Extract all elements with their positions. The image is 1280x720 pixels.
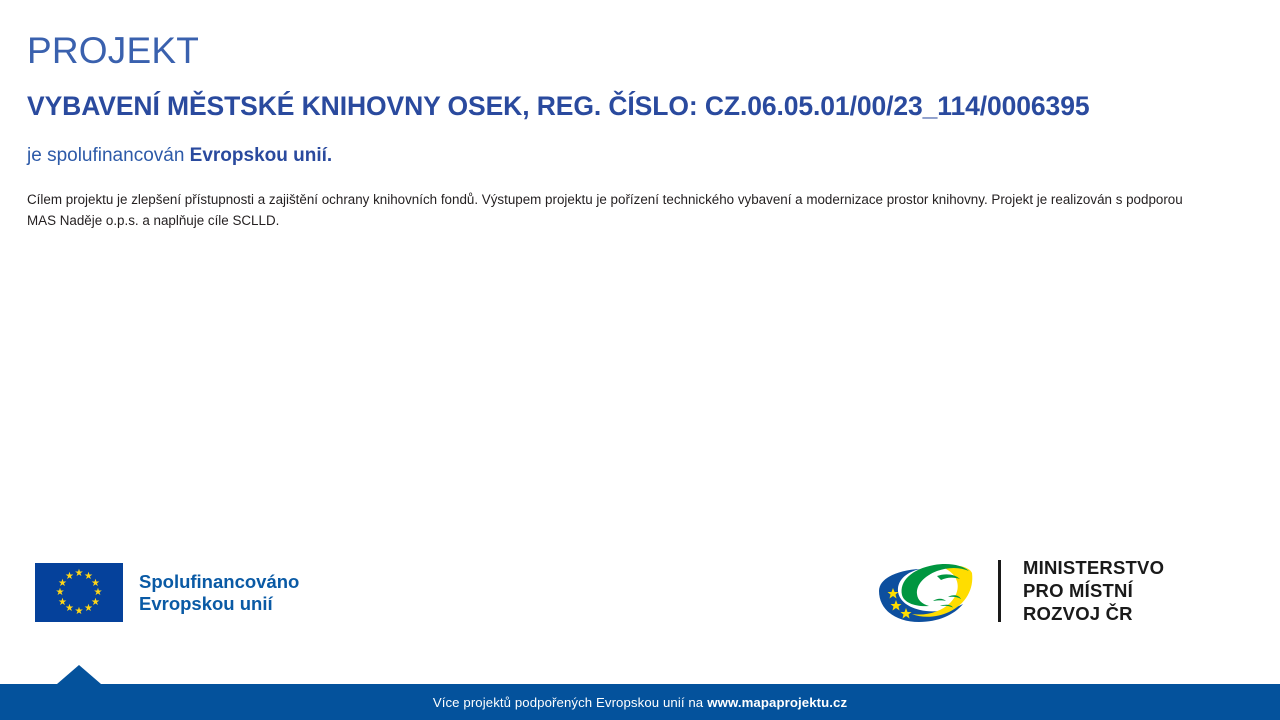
eu-star-icon: ★ xyxy=(65,572,74,581)
ministry-line-1: MINISTERSTVO xyxy=(1023,556,1164,579)
page-kicker: PROJEKT xyxy=(27,28,1242,74)
eu-logo-text: Spolufinancováno Evropskou unií xyxy=(139,571,299,615)
ministry-line-3: ROZVOJ ČR xyxy=(1023,602,1164,625)
footer-url[interactable]: www.mapaprojektu.cz xyxy=(707,695,847,710)
funding-statement-prefix: je spolufinancován xyxy=(27,145,190,166)
logo-divider xyxy=(998,560,1001,622)
eu-cofunding-logo: ★★★★★★★★★★★★ Spolufinancováno Evropskou … xyxy=(35,563,299,622)
eu-flag-icon: ★★★★★★★★★★★★ xyxy=(35,563,123,622)
ministry-logo: MINISTERSTVO PRO MÍSTNÍ ROZVOJ ČR xyxy=(874,556,1164,625)
footer-text: Více projektů podpořených Evropskou unií… xyxy=(0,684,1280,720)
footer-bar: Více projektů podpořených Evropskou unií… xyxy=(0,684,1280,720)
ministry-logo-text: MINISTERSTVO PRO MÍSTNÍ ROZVOJ ČR xyxy=(1023,556,1164,625)
footer-notch-triangle xyxy=(57,665,101,684)
footer-text-prefix: Více projektů podpořených Evropskou unií… xyxy=(433,695,703,710)
eu-star-icon: ★ xyxy=(75,569,84,578)
eu-logo-line-2: Evropskou unií xyxy=(139,593,299,615)
project-description: Cílem projektu je zlepšení přístupnosti … xyxy=(27,189,1187,231)
eu-star-icon: ★ xyxy=(56,588,65,597)
page-title: VYBAVENÍ MĚSTSKÉ KNIHOVNY OSEK, REG. ČÍS… xyxy=(27,90,1242,122)
funding-statement: je spolufinancován Evropskou unií. xyxy=(27,144,1242,168)
slide-canvas: PROJEKT VYBAVENÍ MĚSTSKÉ KNIHOVNY OSEK, … xyxy=(0,0,1280,720)
eu-star-icon: ★ xyxy=(84,604,93,613)
funding-statement-emphasis: Evropskou unií. xyxy=(190,145,333,166)
eu-star-icon: ★ xyxy=(94,588,103,597)
eu-star-icon: ★ xyxy=(58,598,67,607)
project-info-block: PROJEKT VYBAVENÍ MĚSTSKÉ KNIHOVNY OSEK, … xyxy=(27,28,1242,231)
ministry-line-2: PRO MÍSTNÍ xyxy=(1023,579,1164,602)
logo-row: ★★★★★★★★★★★★ Spolufinancováno Evropskou … xyxy=(0,548,1280,643)
eu-star-icon: ★ xyxy=(75,607,84,616)
mmr-emblem-icon xyxy=(874,558,978,624)
eu-logo-line-1: Spolufinancováno xyxy=(139,571,299,593)
